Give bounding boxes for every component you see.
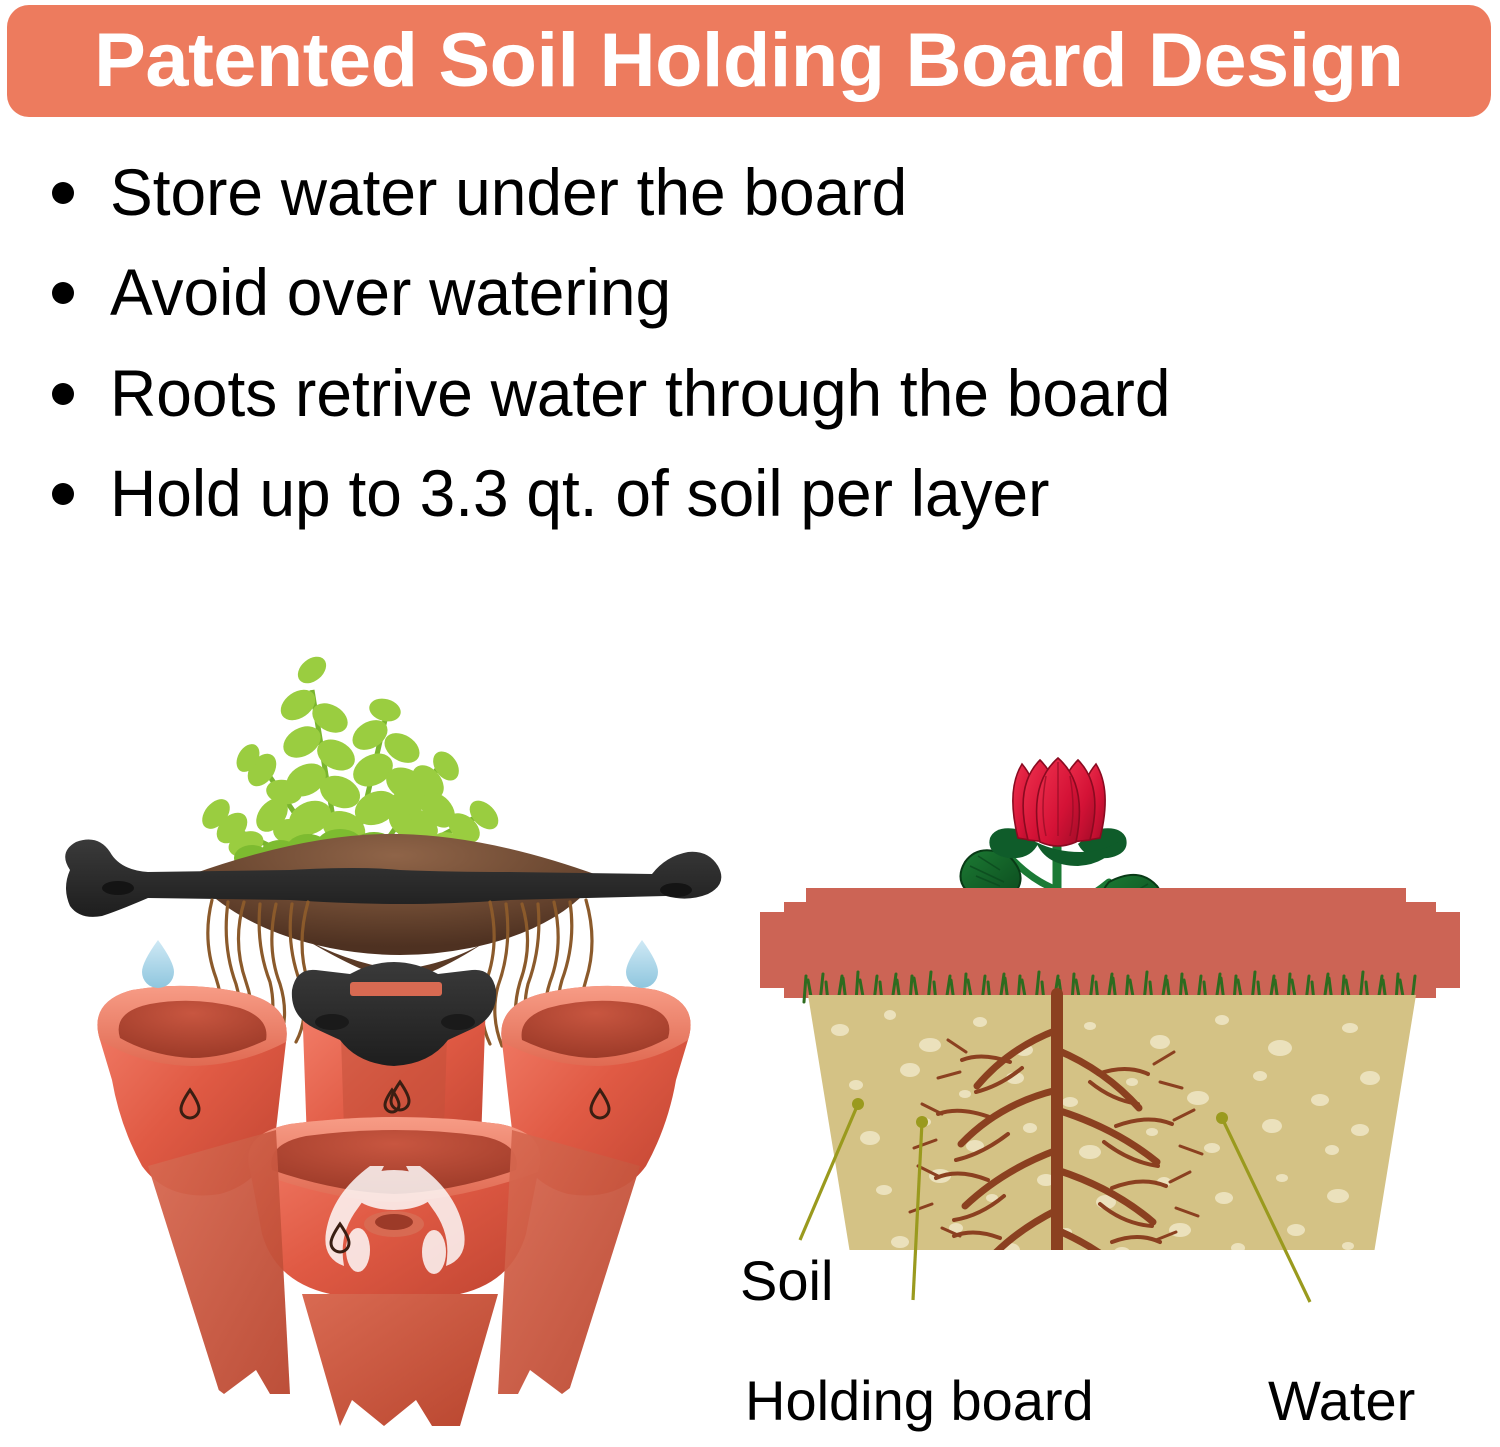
feature-list: Store water under the board Avoid over w… <box>52 150 1472 552</box>
feature-text: Avoid over watering <box>110 250 671 334</box>
bullet-dot-icon <box>52 483 74 505</box>
bullet-dot-icon <box>52 282 74 304</box>
feature-text: Hold up to 3.3 qt. of soil per layer <box>110 451 1049 535</box>
callout-label-soil: Soil <box>740 1248 833 1313</box>
planter-illustration-svg <box>40 570 760 1430</box>
infographic-page: Patented Soil Holding Board Design Store… <box>0 0 1500 1447</box>
water-droplet-icon <box>626 940 658 988</box>
list-item: Avoid over watering <box>52 250 1472 334</box>
pot-cross-section-diagram <box>760 690 1460 1250</box>
bullet-dot-icon <box>52 182 74 204</box>
feature-text: Roots retrive water through the board <box>110 351 1170 435</box>
water-droplet-icon <box>142 940 174 988</box>
feature-text: Store water under the board <box>110 150 907 234</box>
list-item: Roots retrive water through the board <box>52 351 1472 435</box>
list-item: Store water under the board <box>52 150 1472 234</box>
callout-label-water: Water <box>1268 1368 1415 1433</box>
bullet-dot-icon <box>52 383 74 405</box>
cross-section-svg <box>760 690 1460 1250</box>
callout-label-holding-board: Holding board <box>745 1368 1094 1433</box>
stacking-planter-photo <box>40 570 760 1430</box>
list-item: Hold up to 3.3 qt. of soil per layer <box>52 451 1472 535</box>
header-banner: Patented Soil Holding Board Design <box>7 5 1491 117</box>
page-title: Patented Soil Holding Board Design <box>94 23 1403 99</box>
